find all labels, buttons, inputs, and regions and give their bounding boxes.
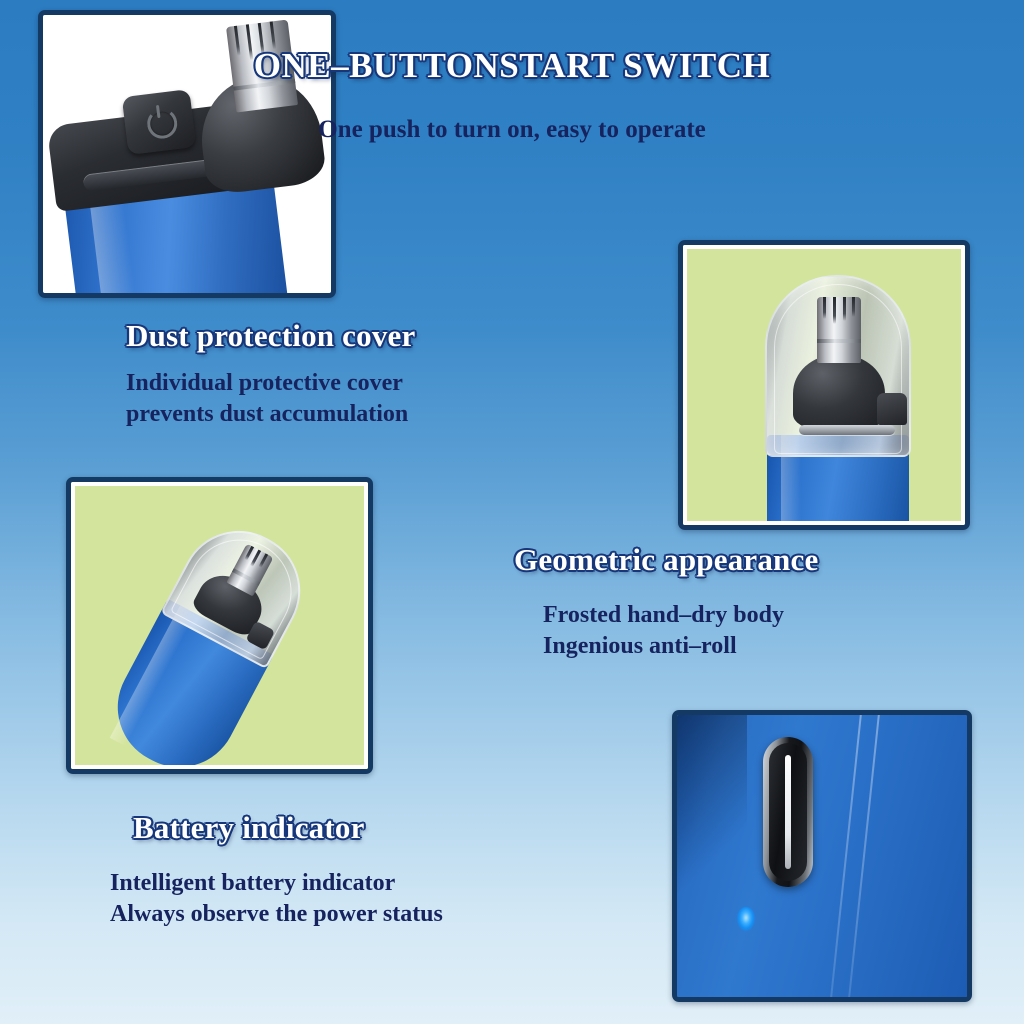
- battery-led-indicator: [737, 907, 755, 931]
- blade-slot: [258, 553, 268, 568]
- power-switch-button: [763, 737, 813, 887]
- product-infographic: ONE–BUTTONSTART SWITCH One push to turn …: [0, 0, 1024, 1024]
- feature-text-battery-indicator: Intelligent battery indicator Always obs…: [110, 868, 443, 930]
- feature-line: Ingenious anti–roll: [543, 631, 784, 662]
- cap-latch-nub: [877, 393, 907, 425]
- feature-photo-one-button-switch: [672, 710, 972, 1002]
- body-seam-line: [846, 715, 881, 997]
- feature-heading-geometric-appearance: Geometric appearance: [514, 542, 818, 578]
- photo-canvas-battery: [71, 482, 368, 769]
- body-highlight: [110, 606, 196, 747]
- photo-canvas-switch: [677, 715, 967, 997]
- trimmer-with-dome-cap: [765, 275, 911, 525]
- blade-slot: [843, 297, 846, 321]
- page-title: ONE–BUTTONSTART SWITCH: [0, 46, 1024, 86]
- blade-slot: [852, 297, 855, 317]
- body-seam-slot: [799, 425, 895, 435]
- trimmer-full-body-tilted: [97, 510, 320, 769]
- switch-highlight-line: [785, 755, 791, 869]
- blade-slot: [833, 297, 836, 324]
- feature-line: Individual protective cover: [126, 368, 408, 399]
- feature-line: Frosted hand–dry body: [543, 600, 784, 631]
- feature-text-geometric-appearance: Frosted hand–dry body Ingenious anti–rol…: [543, 600, 784, 662]
- feature-photo-geometric-appearance: [678, 240, 970, 530]
- silver-blade-head: [817, 297, 861, 363]
- photo-canvas-geometric: [683, 245, 965, 525]
- feature-heading-battery-indicator: Battery indicator: [133, 810, 365, 846]
- feature-photo-battery-indicator: [66, 477, 373, 774]
- blade-slot: [823, 297, 826, 319]
- blade-ring: [232, 568, 260, 586]
- blade-housing-collar: [793, 355, 885, 429]
- feature-line: Intelligent battery indicator: [110, 868, 443, 899]
- feature-heading-dust-protection-cover: Dust protection cover: [126, 318, 415, 354]
- surface-shadow: [677, 715, 747, 905]
- page-subtitle: One push to turn on, easy to operate: [0, 114, 1024, 147]
- feature-line: Always observe the power status: [110, 899, 443, 930]
- trimmer-body-surface: [677, 715, 967, 997]
- blade-ring: [817, 339, 861, 343]
- feature-line: prevents dust accumulation: [126, 399, 408, 430]
- feature-text-dust-protection-cover: Individual protective cover prevents dus…: [126, 368, 408, 430]
- body-seam-line: [828, 715, 863, 997]
